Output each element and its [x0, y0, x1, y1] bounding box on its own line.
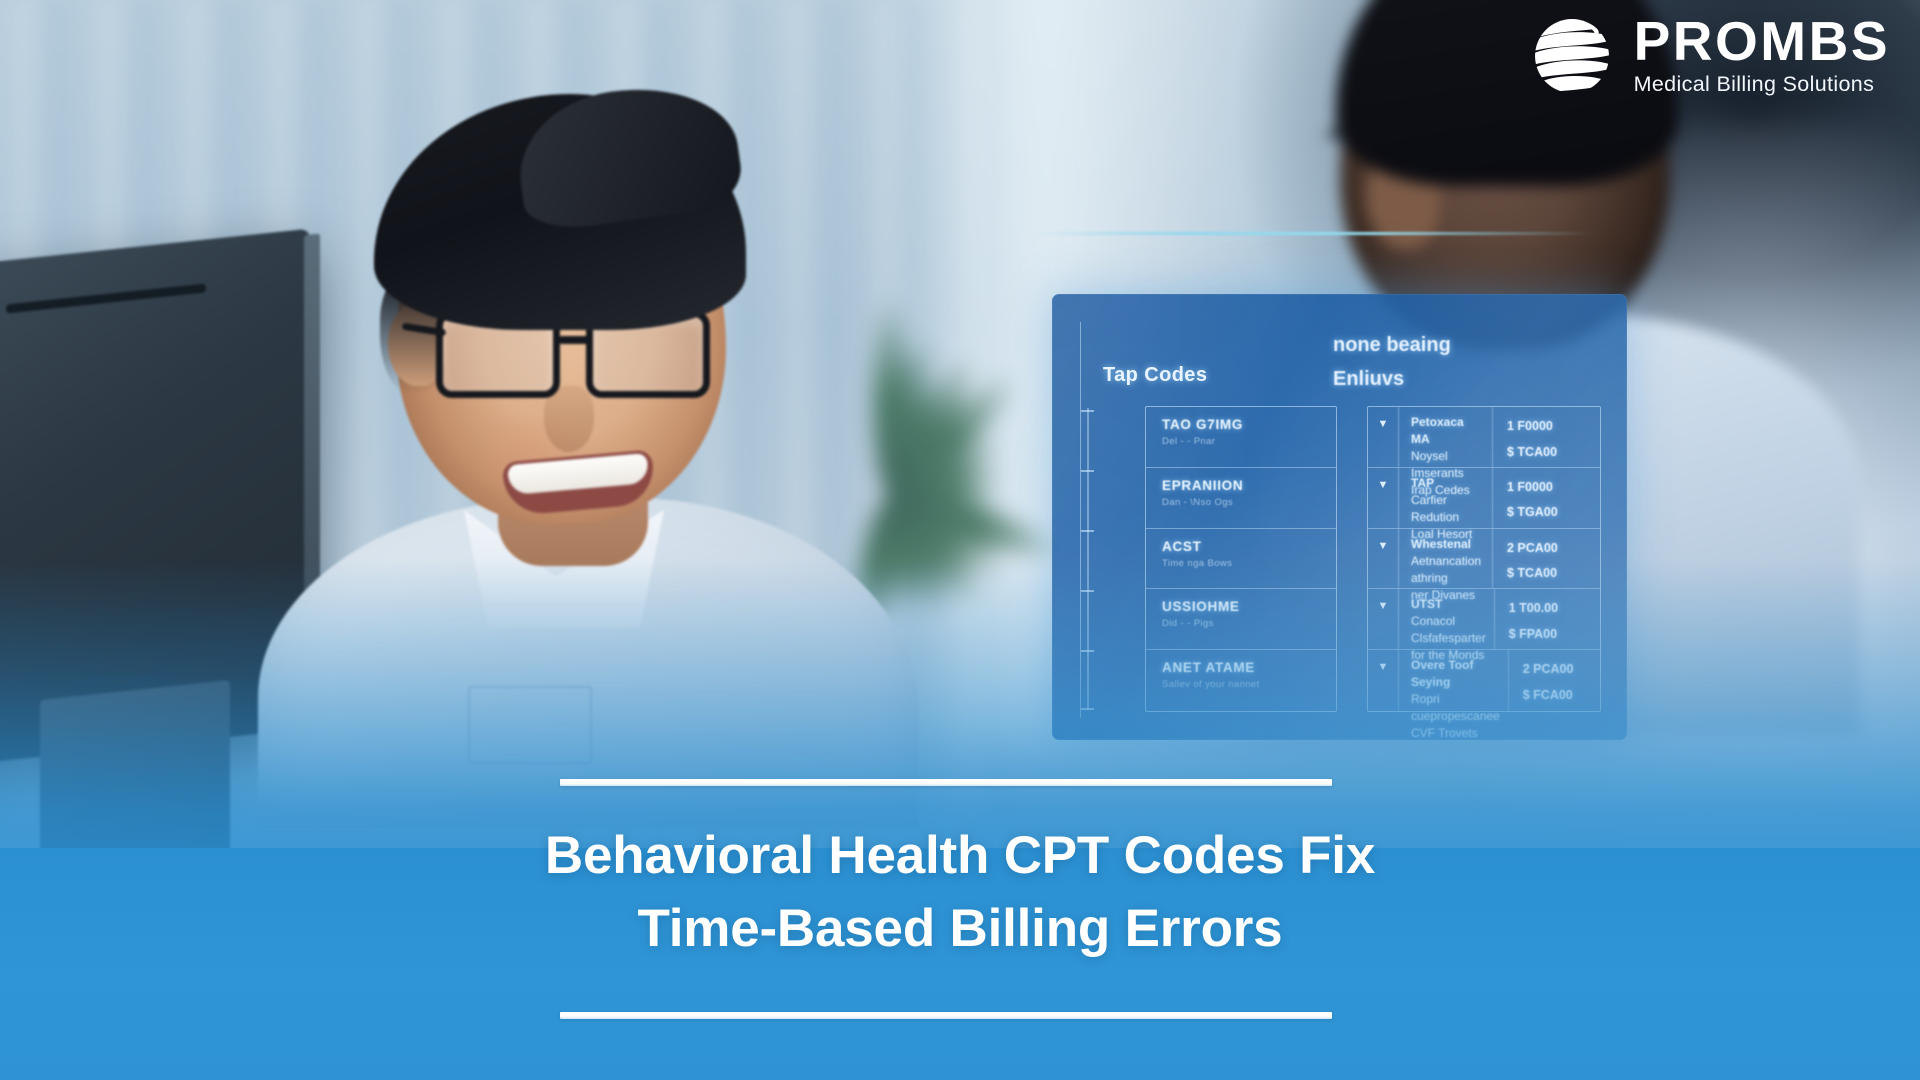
- holo-row-description: Petoxaca MA Noysel Imserants Irap Cedes: [1398, 407, 1492, 467]
- title-rule-top: [560, 779, 1332, 786]
- holo-code-card-title: TAO G7IMG: [1162, 417, 1336, 432]
- holo-code-card[interactable]: EPRANIION Dan - \Nso Ogs: [1146, 468, 1336, 529]
- globe-swirl-icon: [1528, 12, 1616, 100]
- monitor-vent: [6, 283, 206, 313]
- holo-code-card-subtitle: Del - - Pnar: [1162, 436, 1336, 447]
- holo-tick: [1081, 410, 1094, 412]
- brand-tagline: Medical Billing Solutions: [1634, 72, 1875, 97]
- holo-header-right-line2: Enliuvs: [1333, 362, 1451, 396]
- holo-row-qty: 1 F0000: [1507, 475, 1600, 501]
- page-title-line1: Behavioral Health CPT Codes Fix: [0, 820, 1920, 893]
- page-title-line2: Time-Based Billing Errors: [0, 893, 1920, 966]
- brand-name: PROMBS: [1634, 15, 1890, 69]
- holo-row-amount: $ TGA00: [1507, 500, 1600, 526]
- holo-tick: [1081, 530, 1094, 532]
- brand-logo[interactable]: PROMBS Medical Billing Solutions: [1528, 12, 1890, 100]
- man-teeth: [507, 453, 649, 495]
- chevron-down-icon[interactable]: ▼: [1368, 407, 1398, 467]
- holo-row-desc-line2: Carfier Redution: [1411, 492, 1484, 526]
- holo-row-desc-line1: Whestenal: [1411, 536, 1484, 553]
- holo-code-card-subtitle: Dan - \Nso Ogs: [1162, 497, 1336, 508]
- holo-row-qty: 1 F0000: [1507, 414, 1600, 440]
- holo-row-description: TAP Carfier Redution Loal Hesort: [1398, 468, 1492, 528]
- holo-row-desc-line1: Petoxaca MA: [1411, 414, 1484, 448]
- holo-column-header-left: Tap Codes: [1103, 364, 1207, 387]
- eyeglass-bridge: [558, 336, 590, 344]
- holo-row-amount: $ TCA00: [1507, 440, 1600, 466]
- holo-code-card[interactable]: TAO G7IMG Del - - Pnar: [1146, 407, 1336, 468]
- page-title: Behavioral Health CPT Codes Fix Time-Bas…: [0, 820, 1920, 965]
- holo-row-desc-line1: TAP: [1411, 475, 1484, 492]
- holo-header-right-line1: none beaing: [1333, 328, 1451, 362]
- holo-code-card-title: EPRANIION: [1162, 478, 1336, 493]
- holo-table-row[interactable]: ▼ Petoxaca MA Noysel Imserants Irap Cede…: [1368, 407, 1600, 468]
- holo-tick: [1081, 470, 1094, 472]
- holo-row-qty: 2 PCA00: [1507, 536, 1600, 562]
- chevron-down-icon[interactable]: ▼: [1368, 468, 1398, 528]
- holo-table-row[interactable]: ▼ TAP Carfier Redution Loal Hesort 1 F00…: [1368, 468, 1600, 529]
- holo-header-right: none beaing Enliuvs: [1333, 328, 1451, 397]
- blog-banner: Tap Codes none beaing Enliuvs TAO G7IMG …: [0, 0, 1920, 1080]
- holo-code-card-title: ACST: [1162, 539, 1336, 554]
- holo-row-values: 1 F0000 $ TCA00: [1492, 407, 1600, 467]
- hologram-scanline: [1035, 232, 1595, 235]
- holo-row-values: 1 F0000 $ TGA00: [1492, 468, 1600, 528]
- brand-logo-text: PROMBS Medical Billing Solutions: [1634, 15, 1890, 98]
- title-rule-bottom: [560, 1012, 1332, 1019]
